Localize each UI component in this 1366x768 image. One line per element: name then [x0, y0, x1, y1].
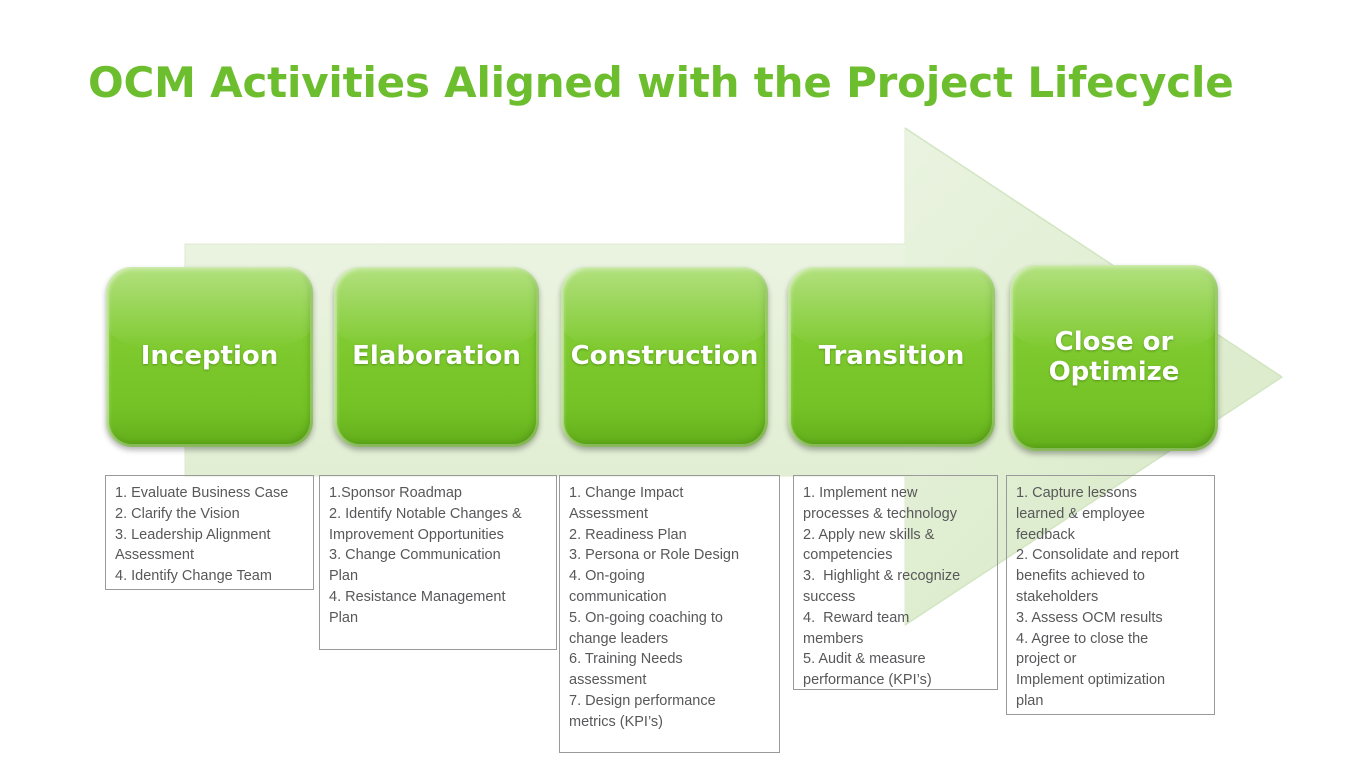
slide-canvas: OCM Activities Aligned with the Project …: [0, 0, 1366, 768]
detail-line: 1. Evaluate Business Case: [115, 483, 305, 504]
detail-line: performance (KPI’s): [803, 670, 989, 691]
detail-line: Plan: [329, 566, 548, 587]
detail-line: assessment: [569, 670, 771, 691]
detail-box-inception: 1. Evaluate Business Case2. Clarify the …: [105, 475, 314, 590]
stage-box-inception[interactable]: Inception: [106, 267, 313, 447]
stage-label-inception: Inception: [135, 342, 285, 372]
detail-line: Assessment: [569, 504, 771, 525]
detail-line: 3. Leadership Alignment: [115, 525, 305, 546]
detail-line: Improvement Opportunities: [329, 525, 548, 546]
stage-label-transition: Transition: [813, 342, 971, 372]
detail-line: 1.Sponsor Roadmap: [329, 483, 548, 504]
stage-box-elaboration[interactable]: Elaboration: [334, 267, 539, 447]
detail-line: 3. Change Communication: [329, 545, 548, 566]
detail-line: 1. Change Impact: [569, 483, 771, 504]
detail-line: 6. Training Needs: [569, 649, 771, 670]
stage-box-transition[interactable]: Transition: [788, 267, 995, 447]
detail-line: 2. Apply new skills &: [803, 525, 989, 546]
detail-line: competencies: [803, 545, 989, 566]
detail-box-construction: 1. Change ImpactAssessment2. Readiness P…: [559, 475, 780, 753]
detail-line: 2. Consolidate and report: [1016, 545, 1206, 566]
detail-line: 2. Readiness Plan: [569, 525, 771, 546]
detail-line: 3. Assess OCM results: [1016, 608, 1206, 629]
detail-line: benefits achieved to: [1016, 566, 1206, 587]
detail-line: 4. Identify Change Team: [115, 566, 305, 587]
detail-line: 1. Implement new: [803, 483, 989, 504]
stage-box-close-or-optimize[interactable]: Close or Optimize: [1010, 265, 1218, 451]
detail-line: 5. On-going coaching to: [569, 608, 771, 629]
detail-line: 4. On-going: [569, 566, 771, 587]
detail-line: stakeholders: [1016, 587, 1206, 608]
detail-line: metrics (KPI’s): [569, 712, 771, 733]
page-title: OCM Activities Aligned with the Project …: [88, 58, 1268, 107]
detail-line: 3. Highlight & recognize: [803, 566, 989, 587]
detail-line: change leaders: [569, 629, 771, 650]
detail-line: learned & employee: [1016, 504, 1206, 525]
detail-line: 4. Resistance Management: [329, 587, 548, 608]
detail-line: Implement optimization: [1016, 670, 1206, 691]
stage-label-construction: Construction: [565, 342, 765, 372]
detail-line: 4. Reward team: [803, 608, 989, 629]
detail-line: 5. Audit & measure: [803, 649, 989, 670]
detail-box-transition: 1. Implement newprocesses & technology2.…: [793, 475, 998, 690]
detail-line: members: [803, 629, 989, 650]
detail-line: 3. Persona or Role Design: [569, 545, 771, 566]
detail-line: success: [803, 587, 989, 608]
detail-line: 4. Agree to close the: [1016, 629, 1206, 650]
detail-line: processes & technology: [803, 504, 989, 525]
stage-box-construction[interactable]: Construction: [561, 267, 768, 447]
detail-line: plan: [1016, 691, 1206, 712]
detail-line: communication: [569, 587, 771, 608]
detail-line: Plan: [329, 608, 548, 629]
detail-line: project or: [1016, 649, 1206, 670]
stage-label-elaboration: Elaboration: [346, 342, 527, 372]
detail-line: 7. Design performance: [569, 691, 771, 712]
detail-box-close-or-optimize: 1. Capture lessonslearned & employeefeed…: [1006, 475, 1215, 715]
detail-line: feedback: [1016, 525, 1206, 546]
detail-line: 1. Capture lessons: [1016, 483, 1206, 504]
detail-line: Assessment: [115, 545, 305, 566]
detail-line: 2. Clarify the Vision: [115, 504, 305, 525]
detail-box-elaboration: 1.Sponsor Roadmap2. Identify Notable Cha…: [319, 475, 557, 650]
detail-line: 2. Identify Notable Changes &: [329, 504, 548, 525]
stage-label-close-or-optimize: Close or Optimize: [1043, 328, 1186, 388]
